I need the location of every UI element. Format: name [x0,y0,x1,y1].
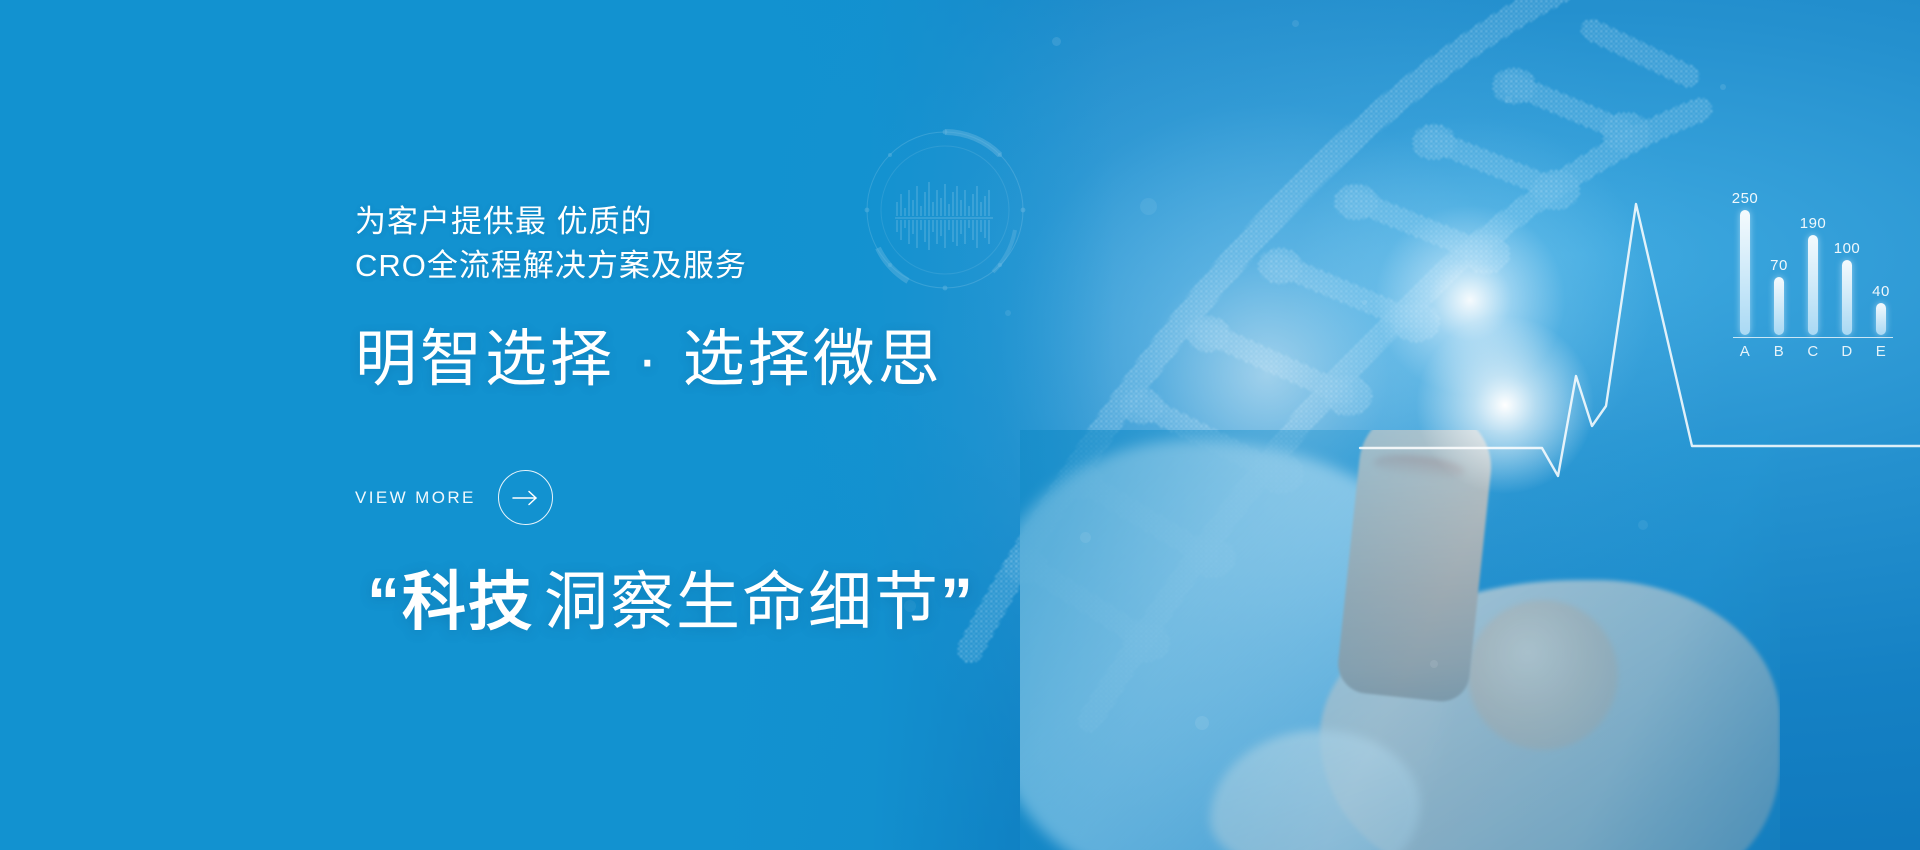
chart-bar-group: 100 [1841,185,1853,335]
view-more-button[interactable]: VIEW MORE [355,470,553,525]
chart-x-tick: A [1737,343,1753,360]
chart-x-tick: D [1839,343,1855,360]
hand-blue-overlay [1020,430,1780,850]
mini-bar-chart: 250 70 190 100 40 A B C [1733,185,1893,380]
chart-bar-value: 70 [1770,257,1788,274]
chart-bar [1808,235,1818,335]
view-more-label: VIEW MORE [355,488,476,508]
chart-bar-value: 40 [1872,283,1890,300]
chart-bar-group: 70 [1773,185,1785,335]
hero-subtitle: 为客户提供最 优质的 CRO全流程解决方案及服务 [355,200,747,288]
chart-x-tick: C [1805,343,1821,360]
quote-strong-text: 科技 [402,566,534,638]
quote-rest-text: 洞察生命细节 [534,566,940,638]
chart-bar-group: 40 [1875,185,1887,335]
ecg-pulse-line [1480,180,1920,480]
chart-bar [1740,210,1750,335]
center-glow [1260,90,1680,510]
quote-open-mark: “ [367,564,402,638]
subtitle-line-1: 为客户提供最 优质的 [355,200,747,244]
arrow-right-icon[interactable] [498,470,553,525]
chart-bar-group: 190 [1807,185,1819,335]
hero-headline: 明智选择·选择微思 [355,326,943,394]
index-finger-shape [1335,430,1497,704]
hero-quote: “科技洞察生命细节” [367,565,975,639]
knuckle-shape [1468,600,1618,750]
palm-shape [1320,580,1780,850]
chart-bar [1774,277,1784,335]
hand-pointing-finger [1020,430,1780,850]
chart-bar-value: 250 [1732,190,1759,207]
chart-x-axis [1733,337,1893,338]
hero-banner: 250 70 190 100 40 A B C [0,0,1920,850]
fingertip-glow [1415,315,1595,495]
chart-bar [1842,260,1852,335]
thumb-shape [1210,730,1420,850]
chart-bar-value: 100 [1834,240,1861,257]
chart-bar-value: 190 [1800,215,1827,232]
chart-x-tick-labels: A B C D E [1733,338,1893,360]
headline-separator: · [615,325,683,394]
chart-plot-area: 250 70 190 100 40 [1733,185,1893,335]
headline-part-2: 选择微思 [683,325,943,394]
quote-close-mark: ” [940,564,975,638]
chart-x-tick: B [1771,343,1787,360]
subtitle-line-2: CRO全流程解决方案及服务 [355,244,747,288]
hero-content: 为客户提供最 优质的 CRO全流程解决方案及服务 明智选择·选择微思 VIEW … [355,0,1115,850]
chart-x-tick: E [1873,343,1889,360]
chart-bar-group: 250 [1739,185,1751,335]
headline-part-1: 明智选择 [355,325,615,394]
chart-bar [1876,303,1886,335]
